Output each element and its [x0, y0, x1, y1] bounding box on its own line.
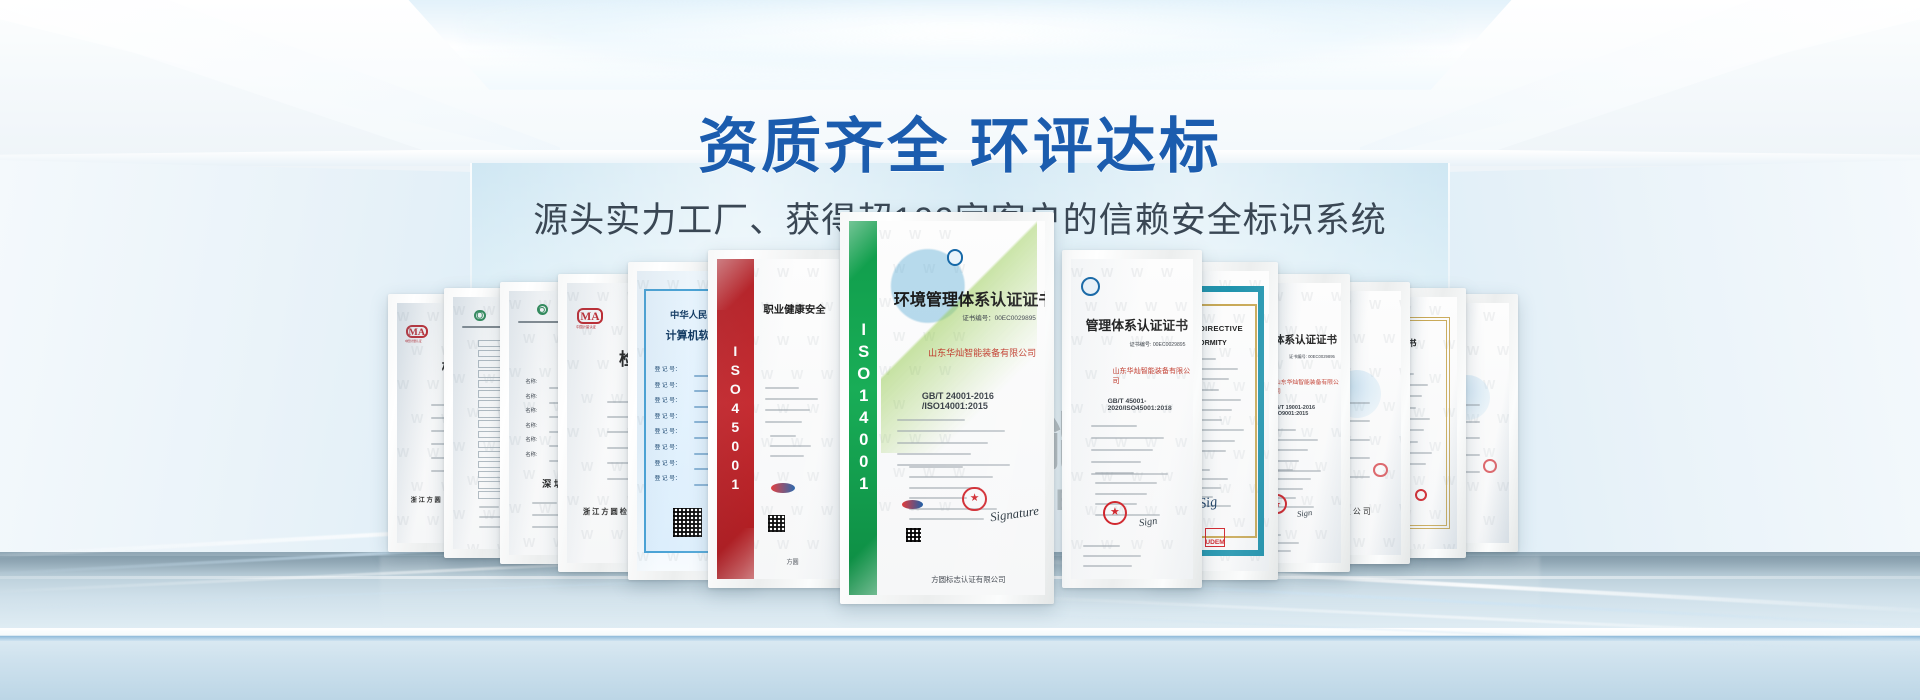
certificate-frame[interactable]: WWWWWWWWWWWWWWWWWWWWWWWWWWWWWWWWWWWW 管理体… [1062, 250, 1202, 588]
iso-standard-band: ISO45001 [717, 259, 754, 579]
certificate-number: 证书编号: 00EC0029895 [1289, 354, 1335, 360]
field-label: 名称: [526, 422, 538, 429]
hcgj-logo [902, 500, 924, 509]
cnas-badge [474, 310, 485, 321]
signature: Sign [1139, 515, 1159, 528]
certificate-org: 山东华灿智能装备有限公司 [1112, 366, 1193, 386]
certificate-org: 山东华灿智能装备有限公司 [1275, 377, 1341, 395]
field-label: 名称: [526, 451, 538, 458]
certification-emblem [947, 249, 964, 266]
certificate-frame[interactable]: WWWWWWWWWWWWWWWWWWWWWWWWWWWWWWWWWWWW ISO… [840, 212, 1054, 604]
certificate-heading: 环境管理体系认证证书 [894, 286, 1045, 310]
field-label: 登 记 号： [655, 380, 681, 389]
certificate-heading: 中华人民 [670, 307, 707, 321]
certificate-frame[interactable]: WWWWWWWWWWWWWWWWWWWWWWWWWWWWWWWWWWWW ISO… [708, 250, 848, 588]
field-label: 登 记 号： [655, 364, 681, 373]
certificate-heading: 职业健康安全 [763, 301, 825, 316]
certificate-frame-inner: WWWWWWWWWWWWWWWWWWWWWWWWWWWWWWWWWWWW ISO… [717, 259, 839, 579]
red-seal-stamp: ★ [962, 487, 987, 512]
udem-logo: UDEM [1205, 528, 1225, 548]
cma-badge: MA [577, 308, 603, 324]
field-label: 名称: [526, 378, 538, 385]
hcgj-logo [771, 483, 795, 493]
signature: Sign [1296, 507, 1312, 519]
issuing-body: 方圆 [786, 557, 798, 566]
qr-code [673, 508, 702, 537]
certificate-standard: GB/T 24001-2016 /ISO14001:2015 [922, 391, 1045, 411]
certificate-frame-inner: WWWWWWWWWWWWWWWWWWWWWWWWWWWWWWWWWWWW ISO… [849, 221, 1045, 595]
certificate-paper: WWWWWWWWWWWWWWWWWWWWWWWWWWWWWWWWWWWW ISO… [849, 221, 1045, 595]
certificate-paper: WWWWWWWWWWWWWWWWWWWWWWWWWWWWWWWWWWWW 管理体… [1071, 259, 1193, 579]
paper-watermark-pattern: WWWWWWWWWWWWWWWWWWWWWWWWWWWWWWWWWWWW [1071, 259, 1193, 579]
field-label: 名称: [526, 393, 538, 400]
certificate-standard: GB/T 45001-2020/ISO45001:2018 [1108, 398, 1193, 412]
field-label: 登 记 号： [655, 395, 681, 404]
red-seal-stamp [1415, 489, 1427, 501]
field-label: 登 记 号： [655, 442, 681, 451]
certificate-standard: GB/T 19001-2016 /ISO9001:2015 [1271, 405, 1341, 417]
qr-code [906, 528, 921, 543]
certificate-org: 浙 江 方 圆 [411, 495, 441, 504]
field-label: 登 记 号： [655, 411, 681, 420]
certificate-number: 证书编号：00EC0029895 [962, 313, 1036, 322]
field-label: 登 记 号： [655, 458, 681, 467]
cma-badge-subtitle: 中国计量认证 [405, 339, 422, 343]
certificate-number: 证书编号: 00EC0029895 [1130, 341, 1186, 348]
certificate-paper: WWWWWWWWWWWWWWWWWWWWWWWWWWWWWWWWWWWW ISO… [717, 259, 839, 579]
red-seal-stamp [1483, 459, 1497, 473]
signature: Signature [990, 504, 1041, 526]
red-seal-stamp [1373, 463, 1388, 478]
issuing-body: 方圆标志认证有限公司 [931, 574, 1005, 585]
cnas-badge [537, 304, 548, 315]
red-seal-stamp: ★ [1103, 501, 1127, 525]
field-label: 登 记 号： [655, 426, 681, 435]
field-label: 名称: [526, 407, 538, 414]
certification-emblem [1081, 277, 1101, 297]
cma-badge-subtitle: 中国计量认证 [576, 325, 596, 330]
field-label: 名称: [526, 436, 538, 443]
floor-bright-line [0, 628, 1920, 635]
cma-badge: MA [406, 325, 428, 338]
certificate-banner: 资质齐全 环评达标 源头实力工厂、获得超100家客户的信赖安全标识系统 WWWW… [0, 0, 1920, 700]
iso-standard-band: ISO14001 [849, 221, 877, 595]
qr-code [768, 515, 785, 532]
certificate-frame-inner: WWWWWWWWWWWWWWWWWWWWWWWWWWWWWWWWWWWW 管理体… [1071, 259, 1193, 579]
certificate-heading: 管理体系认证证书 [1086, 315, 1188, 334]
certificate-org: 山东华灿智能装备有限公司 [928, 346, 1036, 359]
field-label: 登 记 号： [655, 473, 681, 482]
